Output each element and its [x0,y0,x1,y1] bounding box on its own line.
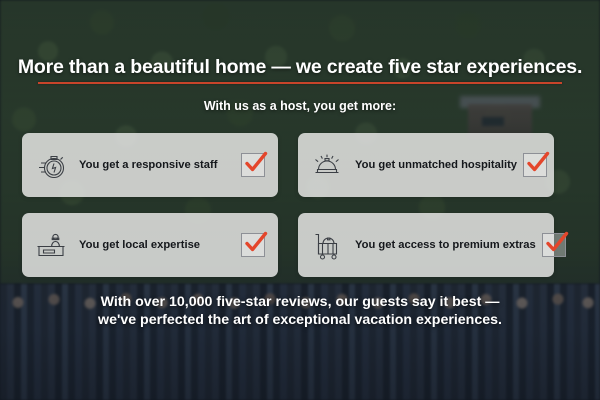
benefit-card-local-expertise[interactable]: You get local expertise [22,213,278,277]
closing-statement-line-1: With over 10,000 five-star reviews, our … [0,293,600,311]
closing-statement: With over 10,000 five-star reviews, our … [0,293,600,329]
promo-slide: More than a beautiful home — we create f… [0,0,600,400]
luggage-cart-icon [307,225,347,265]
benefit-card-label: You get local expertise [71,239,241,251]
benefit-card-premium-extras[interactable]: You get access to premium extras [298,213,554,277]
checkbox-responsive-staff[interactable] [241,153,265,177]
concierge-desk-icon [31,225,71,265]
benefit-card-label: You get unmatched hospitality [347,159,523,171]
benefit-card-unmatched-hospitality[interactable]: You get unmatched hospitality [298,133,554,197]
stopwatch-icon [31,145,71,185]
review-count: 10,000 [169,294,212,310]
benefit-card-label: You get a responsive staff [71,159,241,171]
subheadline: With us as a host, you get more: [0,99,600,113]
benefit-card-grid: You get a responsive staff [22,133,578,277]
closing-statement-line-2: we've perfected the art of exceptional v… [0,311,600,329]
checkbox-local-expertise[interactable] [241,233,265,257]
statement-suffix: five-star reviews, our guests say it bes… [212,294,499,310]
checkbox-unmatched-hospitality[interactable] [523,153,547,177]
benefit-card-label: You get access to premium extras [347,239,542,251]
service-bell-icon [307,145,347,185]
page-title: More than a beautiful home — we create f… [18,56,582,79]
slide-content: More than a beautiful home — we create f… [0,0,600,400]
benefit-card-responsive-staff[interactable]: You get a responsive staff [22,133,278,197]
headline-block: More than a beautiful home — we create f… [0,56,600,79]
checkbox-premium-extras[interactable] [542,233,566,257]
statement-prefix: With over [101,294,169,310]
headline-accent-rule [38,82,562,84]
